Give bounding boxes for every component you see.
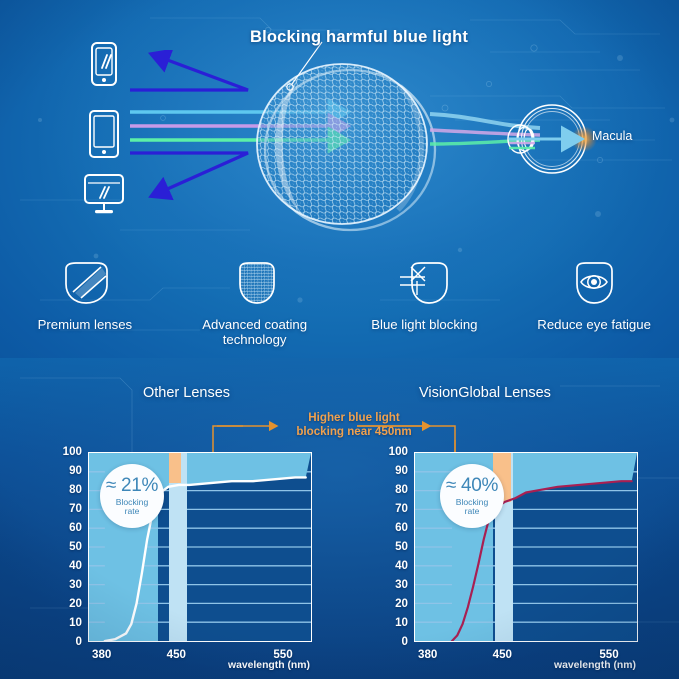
y-tick-label: 100: [52, 446, 82, 457]
y-tick-label: 20: [378, 598, 408, 609]
feature-row: Premium lenses Advanced coating technolo…: [0, 258, 679, 358]
callout-leader-line: [280, 40, 330, 100]
y-tick-label: 60: [378, 522, 408, 533]
chart-other-lenses: ≈ 21% Blocking rate: [88, 452, 312, 642]
x-tick-label: 380: [92, 648, 111, 661]
y-tick-label: 70: [52, 503, 82, 514]
y-tick-label: 50: [378, 541, 408, 552]
y-tick-label: 40: [52, 560, 82, 571]
blue-reflected-ray-lower: [130, 153, 248, 195]
blocking-rate-value: ≈ 40%: [446, 476, 498, 496]
x-tick-label: 450: [167, 648, 186, 661]
feature-label: Reduce eye fatigue: [537, 317, 651, 332]
y-tick-label: 30: [378, 579, 408, 590]
blocking-rate-caption: Blocking rate: [116, 498, 148, 517]
y-tick-label: 0: [378, 636, 408, 647]
y-tick-label: 100: [378, 446, 408, 457]
tablet-icon: [82, 108, 126, 160]
monitor-icon: [80, 172, 128, 218]
chart-visionglobal-lenses: ≈ 40% Blocking rate: [414, 452, 638, 642]
x-axis-label-right: wavelength (nm): [554, 660, 636, 671]
macula-label: Macula: [592, 129, 632, 143]
eye-anatomy-illustration: [495, 92, 600, 187]
feature-reduce-eye-fatigue: Reduce eye fatigue: [509, 258, 679, 358]
feature-label: Blue light blocking: [371, 317, 477, 332]
feature-premium-lenses: Premium lenses: [0, 258, 170, 358]
eye-fatigue-icon: [568, 258, 620, 308]
premium-lens-icon: [59, 258, 111, 308]
y-tick-label: 0: [52, 636, 82, 647]
blue-reflected-ray-upper: [130, 55, 248, 90]
blue-light-blocking-lens: [250, 58, 440, 233]
chart-title-visionglobal: VisionGlobal Lenses: [419, 385, 551, 401]
y-tick-label: 80: [378, 484, 408, 495]
blue-light-block-icon: [395, 258, 453, 308]
y-tick-label: 70: [378, 503, 408, 514]
y-tick-label: 40: [378, 560, 408, 571]
blocking-rate-caption: Blocking rate: [456, 498, 488, 517]
y-tick-label: 60: [52, 522, 82, 533]
y-tick-label: 30: [52, 579, 82, 590]
y-tick-label: 50: [52, 541, 82, 552]
x-tick-label: 550: [273, 648, 292, 661]
chart-title-other-lenses: Other Lenses: [143, 385, 230, 401]
y-tick-label: 10: [378, 617, 408, 628]
smartphone-icon: [84, 40, 124, 90]
feature-advanced-coating: Advanced coating technology: [170, 258, 340, 358]
y-tick-label: 10: [52, 617, 82, 628]
y-tick-label: 80: [52, 484, 82, 495]
blocking-rate-badge: ≈ 21% Blocking rate: [100, 464, 164, 528]
x-tick-label: 450: [493, 648, 512, 661]
x-tick-label: 550: [599, 648, 618, 661]
blocking-rate-value: ≈ 21%: [106, 476, 158, 496]
x-axis-label-left: wavelength (nm): [228, 660, 310, 671]
feature-label: Premium lenses: [38, 317, 133, 332]
y-tick-label: 90: [378, 465, 408, 476]
x-tick-label: 380: [418, 648, 437, 661]
page-title: Blocking harmful blue light: [250, 28, 468, 47]
coating-mesh-icon: [229, 258, 281, 308]
infographic-root: Blocking harmful blue light: [0, 0, 679, 679]
y-tick-label: 20: [52, 598, 82, 609]
y-tick-label: 90: [52, 465, 82, 476]
feature-blue-light-blocking: Blue light blocking: [340, 258, 510, 358]
feature-label: Advanced coating technology: [202, 317, 307, 347]
blocking-rate-badge: ≈ 40% Blocking rate: [440, 464, 504, 528]
